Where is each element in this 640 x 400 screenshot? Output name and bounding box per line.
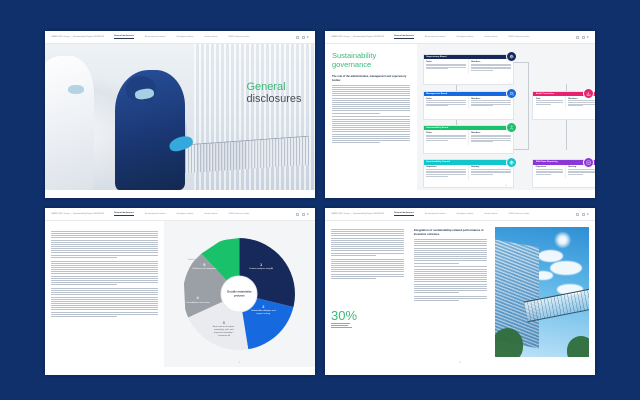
nav-link-employee-matters[interactable]: Employee matters [177, 213, 194, 215]
nav-link-social-matters[interactable]: Social matters [204, 36, 217, 38]
grid-icon[interactable] [296, 36, 299, 39]
nav-link-general-disclosures[interactable]: General disclosures [394, 212, 414, 216]
nav-icons[interactable] [576, 36, 589, 39]
node-title: Supervisory Board [426, 56, 446, 58]
nav-link-social-matters[interactable]: Social matters [484, 36, 497, 38]
node-cell: Objectives: [424, 165, 468, 180]
section-kicker: The role of the administrative, manageme… [332, 75, 410, 82]
slide-grid: CARBOTEC Group — Sustainability Report 2… [45, 31, 595, 375]
section-subheading: Integration of sustainability-related pe… [414, 229, 488, 237]
people-icon [506, 88, 517, 99]
nav-brand: CARBOTEC Group — Sustainability Report 2… [331, 36, 384, 38]
materiality-text-column [45, 221, 164, 367]
mid-text-column: Integration of sustainability-related pe… [409, 221, 493, 367]
nav-link-environmental-matters[interactable]: Environmental matters [145, 36, 166, 38]
page-body: Stakeholders Double materiality process [45, 221, 315, 367]
nav-link-employee-matters[interactable]: Employee matters [177, 36, 194, 38]
governance-node-supervisory-board[interactable]: Supervisory Board Tasks: Members: [423, 54, 514, 86]
governance-node-sustainability-board[interactable]: Sustainability Board Tasks: Members: [423, 125, 514, 154]
grid-icon[interactable] [296, 213, 299, 216]
nav-link-environmental-matters[interactable]: Environmental matters [425, 213, 446, 215]
node-cell: Members: [468, 130, 513, 145]
node-cell: Tasks: [424, 130, 468, 145]
cell-label: Tasks: [426, 98, 466, 100]
segment-label-3: 3 Assessment of impact, materiality, ris… [210, 321, 237, 337]
nav-icons[interactable] [296, 36, 309, 39]
connector-line [528, 62, 529, 149]
top-navigation[interactable]: CARBOTEC Group — Sustainability Report 2… [325, 31, 595, 44]
page-general-disclosures[interactable]: CARBOTEC Group — Sustainability Report 2… [45, 31, 315, 198]
body-paragraph [332, 116, 410, 143]
node-title: Sustainability Council [426, 161, 450, 163]
node-cell: Task: [533, 96, 565, 109]
nav-links[interactable]: General disclosures Environmental matter… [394, 212, 529, 216]
nav-link-social-matters[interactable]: Social matters [204, 213, 217, 215]
cell-label: Tasks: [426, 61, 466, 63]
page-integration-performance[interactable]: CARBOTEC Group — Sustainability Report 2… [325, 208, 595, 375]
page-number: 9 [239, 362, 240, 364]
segment-label-1: 1 Context analysis using AI [246, 263, 276, 271]
page-number: 10 [459, 362, 461, 364]
nav-link-social-matters[interactable]: Social matters [484, 213, 497, 215]
node-cell: Objectives: [533, 165, 565, 178]
audit-icon [583, 88, 594, 99]
nav-link-employee-matters[interactable]: Employee matters [457, 213, 474, 215]
nav-brand: CARBOTEC Group — Sustainability Report 2… [331, 213, 384, 215]
nav-brand: CARBOTEC Group — Sustainability Report 2… [51, 213, 104, 215]
cloud [550, 261, 582, 275]
node-title: ESG Data Reporting [536, 161, 558, 163]
cloud [538, 250, 562, 262]
double-materiality-chart: Stakeholders Double materiality process [164, 221, 315, 367]
governance-text-column: Sustainability governance The role of th… [325, 44, 417, 190]
top-navigation[interactable]: CARBOTEC Group — Sustainability Report 2… [45, 208, 315, 221]
page-title-line2: disclosures [246, 94, 301, 106]
nav-link-employee-matters[interactable]: Employee matters [457, 36, 474, 38]
governance-node-sustainability-council[interactable]: Sustainability Council Objectives: Meeti… [423, 159, 514, 188]
nav-link-esrs-reference-index[interactable]: ESRS reference index [229, 36, 250, 38]
segment-label-5: 5 Validation and integration [192, 263, 216, 271]
segment-label-4: 4 Consolidation and review [186, 296, 210, 304]
nav-link-general-disclosures[interactable]: General disclosures [114, 35, 134, 39]
body-paragraph [332, 85, 410, 114]
nav-links[interactable]: General disclosures Environmental matter… [394, 35, 529, 39]
body-paragraph [414, 266, 488, 293]
cell-label: Task: [536, 98, 563, 100]
node-title: Audit Committee [536, 93, 554, 95]
cleanroom-photo [45, 44, 315, 190]
nav-link-esrs-reference-index[interactable]: ESRS reference index [509, 36, 530, 38]
cell-label: Members: [471, 98, 511, 100]
governance-node-management-board[interactable]: Management Board Tasks: Members: [423, 91, 514, 120]
list-icon[interactable] [302, 213, 305, 216]
nav-link-environmental-matters[interactable]: Environmental matters [145, 213, 166, 215]
scales-icon [506, 51, 517, 62]
node-cell: Meeting: [468, 165, 513, 180]
cell-label: Objectives: [536, 166, 563, 168]
list-icon[interactable] [582, 36, 585, 39]
stat-caption [331, 323, 357, 328]
node-title: Sustainability Board [426, 127, 448, 129]
page-number: 8 [505, 185, 506, 187]
donut-chart: Double materiality process 1 Context ana… [183, 238, 295, 350]
section-heading: Sustainability governance [332, 52, 410, 69]
nav-link-esrs-reference-index[interactable]: ESRS reference index [229, 213, 250, 215]
list-icon[interactable] [582, 213, 585, 216]
left-text-column: 30% [325, 221, 409, 367]
cell-label: Objectives: [426, 166, 466, 168]
node-cell: Tasks: [424, 59, 468, 74]
nav-icons[interactable] [296, 213, 309, 216]
cell-label: Members: [471, 61, 511, 63]
body-paragraph [331, 259, 404, 279]
page-title: General disclosures [246, 82, 301, 106]
cell-label: Members: [471, 132, 511, 134]
nav-links[interactable]: General disclosures Environmental matter… [114, 35, 249, 39]
nav-link-general-disclosures[interactable]: General disclosures [394, 35, 414, 39]
list-icon[interactable] [302, 36, 305, 39]
cell-label: Meeting: [471, 166, 511, 168]
worker-foreground [45, 56, 94, 190]
next-arrow-icon[interactable] [587, 36, 589, 38]
stat-value: 30% [331, 309, 357, 322]
body-paragraph [51, 261, 158, 285]
body-paragraph [51, 288, 158, 317]
nav-link-general-disclosures[interactable]: General disclosures [114, 212, 134, 216]
nav-brand: CARBOTEC Group — Sustainability Report 2… [51, 36, 104, 38]
page-body: Sustainability governance The role of th… [325, 44, 595, 190]
nav-link-environmental-matters[interactable]: Environmental matters [425, 36, 446, 38]
cell-label: Tasks: [426, 132, 466, 134]
next-arrow-icon[interactable] [587, 213, 589, 215]
body-paragraph [331, 229, 404, 256]
next-arrow-icon[interactable] [307, 213, 309, 215]
node-cell: Tasks: [424, 96, 468, 109]
body-paragraph [51, 231, 158, 258]
body-paragraph [414, 296, 488, 301]
governance-diagram: Supervisory Board Tasks: Members: [417, 44, 595, 190]
nav-link-esrs-reference-index[interactable]: ESRS reference index [509, 213, 530, 215]
nav-links[interactable]: General disclosures Environmental matter… [114, 212, 249, 216]
segment-label-2: 2 Stakeholder dialogue and impact scorin… [248, 305, 278, 316]
nav-icons[interactable] [576, 213, 589, 216]
grid-icon[interactable] [576, 213, 579, 216]
group-icon [506, 122, 517, 133]
grid-icon[interactable] [576, 36, 579, 39]
node-title: Management Board [426, 93, 447, 95]
body-paragraph [414, 239, 488, 263]
node-cell: Members: [468, 59, 513, 74]
globe-icon [506, 157, 517, 168]
page-double-materiality[interactable]: CARBOTEC Group — Sustainability Report 2… [45, 208, 315, 375]
solar-canopy-photo [495, 227, 589, 357]
node-cell: Members: [468, 96, 513, 109]
donut-center-label: Double materiality process [221, 276, 258, 313]
top-navigation[interactable]: CARBOTEC Group — Sustainability Report 2… [45, 31, 315, 44]
hero-section: General disclosures [45, 44, 315, 190]
page-body: 30% Integration of sustainability-relate… [325, 221, 595, 367]
top-navigation[interactable]: CARBOTEC Group — Sustainability Report 2… [325, 208, 595, 221]
chart-icon [583, 157, 594, 168]
page-sustainability-governance[interactable]: CARBOTEC Group — Sustainability Report 2… [325, 31, 595, 198]
next-arrow-icon[interactable] [307, 36, 309, 38]
worker-foreground-mask [68, 85, 84, 94]
stat-block: 30% [331, 309, 357, 329]
